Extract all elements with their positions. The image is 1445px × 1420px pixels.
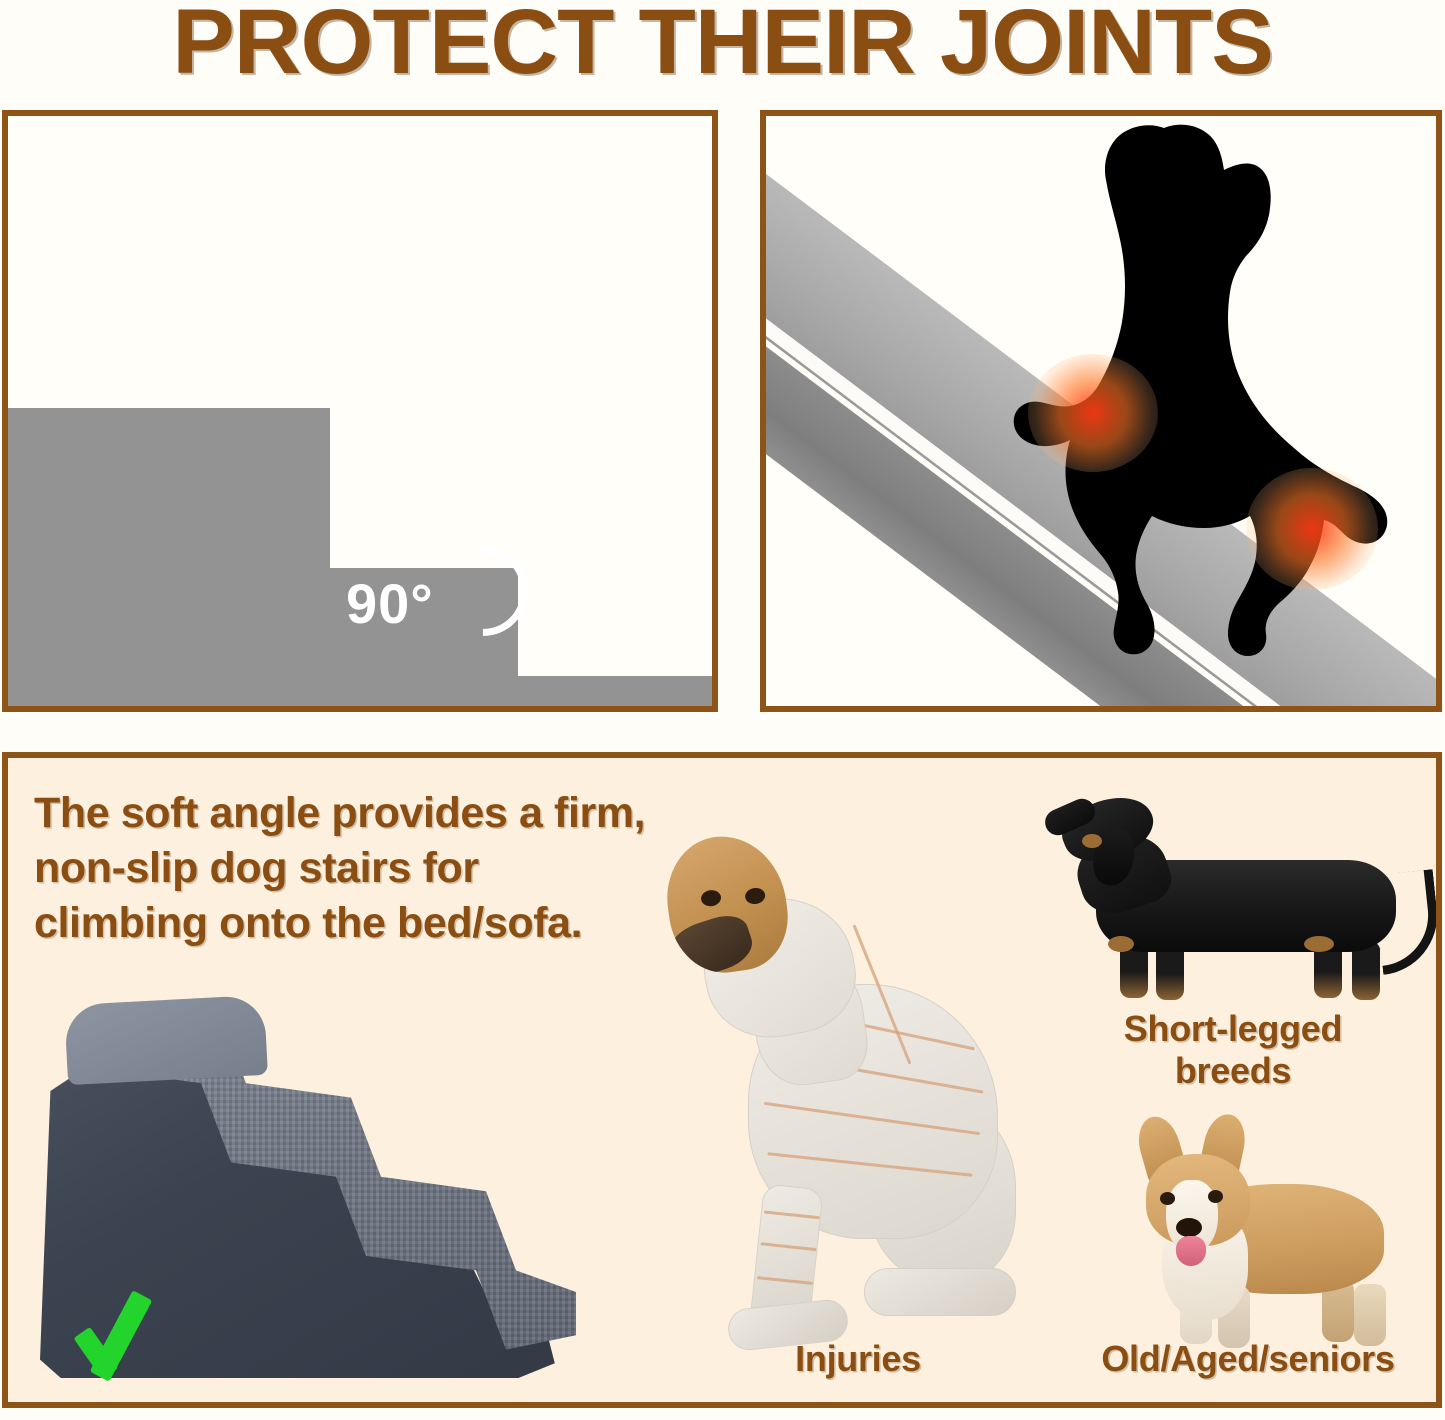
- dog-muzzle: [662, 909, 758, 979]
- caption-seniors: Old/Aged/seniors: [1048, 1338, 1442, 1380]
- bandage-rear-paw: [864, 1268, 1016, 1316]
- foam-pet-stairs-product: [22, 980, 582, 1390]
- corgi-eye-left: [1160, 1192, 1175, 1205]
- corgi-eye-right: [1208, 1190, 1223, 1203]
- caption-injuries: Injuries: [708, 1338, 1008, 1380]
- dachshund-photo: [1060, 790, 1440, 1010]
- injured-dog-photo: [668, 836, 1048, 1356]
- corgi-nose: [1176, 1218, 1202, 1237]
- caption-short-legged: Short-legged breeds: [1068, 1008, 1398, 1093]
- body-line-3: climbing onto the bed/sofa.: [34, 896, 734, 951]
- dachshund-tan-marking: [1082, 834, 1102, 848]
- dog-eye-right: [744, 887, 766, 906]
- angle-label: 90°: [346, 571, 434, 636]
- dachshund-tan-marking: [1304, 936, 1334, 952]
- page-title: PROTECT THEIR JOINTS: [0, 0, 1445, 90]
- dachshund-tan-marking: [1108, 936, 1134, 952]
- corgi-photo: [1100, 1110, 1400, 1360]
- infographic-root: PROTECT THEIR JOINTS 90° Difficulty of c…: [0, 0, 1445, 1420]
- green-check-icon: [82, 1276, 178, 1372]
- panel-difficulty-of-climbing: 90° Difficulty of climbing: [2, 110, 718, 712]
- stairs-top-step: [64, 995, 268, 1085]
- stair-block-bottom: [6, 676, 718, 712]
- dog-silhouette-icon: [766, 116, 1442, 712]
- body-line-2: non-slip dog stairs for: [34, 841, 734, 896]
- panel-product-solution: The soft angle provides a firm, non-slip…: [2, 752, 1442, 1408]
- corgi-tongue: [1176, 1236, 1206, 1266]
- panel-slippery-ramp: Slippery, easy to fall: [760, 110, 1442, 712]
- body-line-1: The soft angle provides a firm,: [34, 786, 734, 841]
- corgi-leg: [1354, 1284, 1386, 1346]
- dog-eye-left: [700, 889, 722, 908]
- solution-body-copy: The soft angle provides a firm, non-slip…: [34, 786, 734, 951]
